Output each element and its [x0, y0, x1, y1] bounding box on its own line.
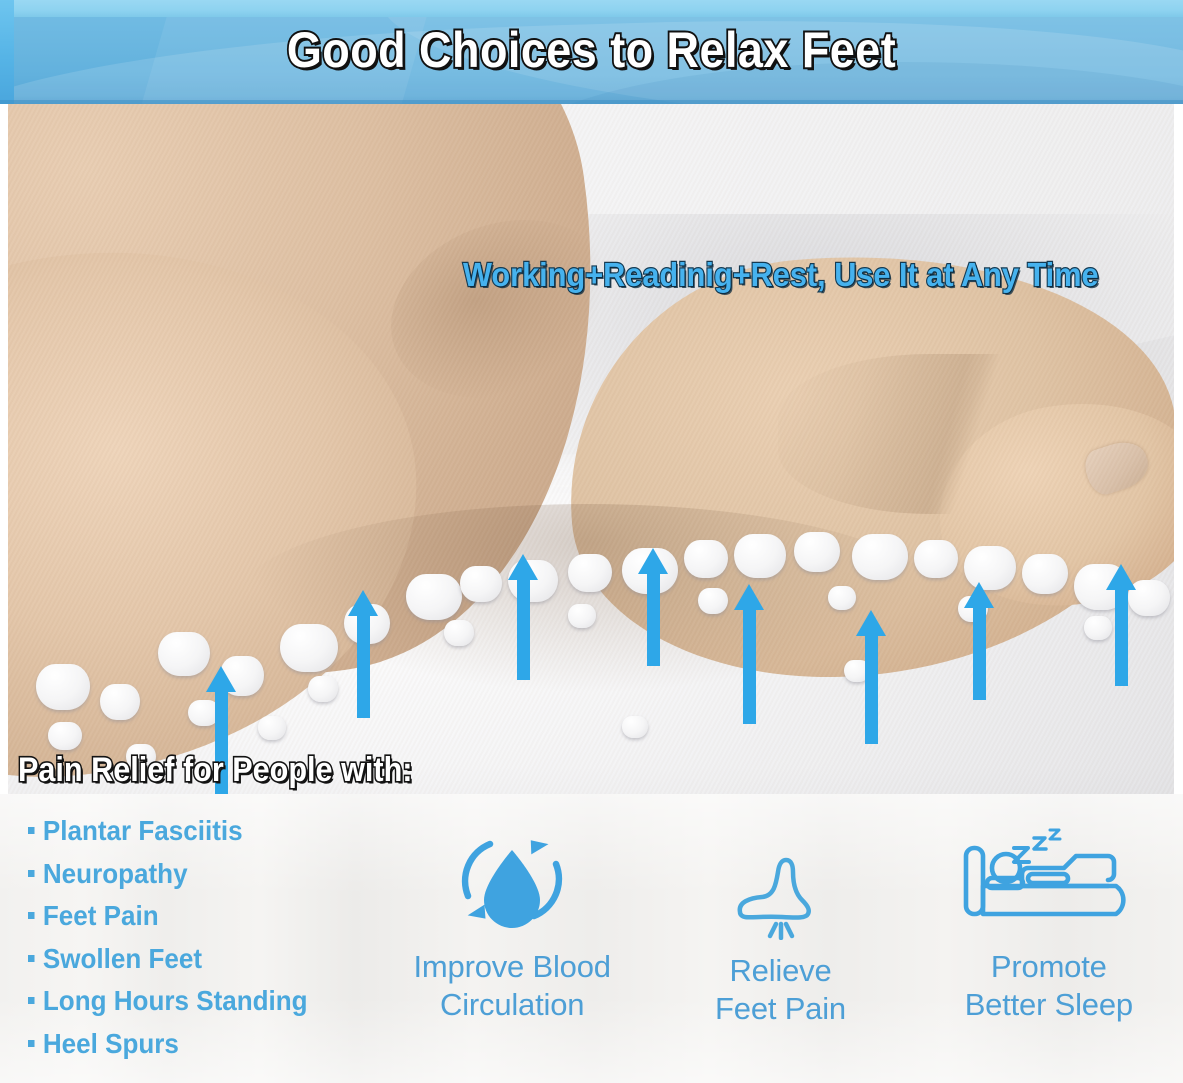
massage-nub — [828, 586, 856, 610]
bullet-square-icon — [28, 870, 35, 877]
product-photo: Working+Readinig+Rest, Use It at Any Tim… — [0, 104, 1183, 794]
bullet-square-icon — [28, 997, 35, 1004]
benefit-relieve-feet-pain: Relieve Feet Pain — [646, 802, 914, 1028]
massage-nub — [444, 620, 474, 646]
arrow-shaft — [865, 632, 878, 744]
massage-nub — [36, 664, 90, 710]
benefits-section: Plantar FasciitisNeuropathyFeet PainSwol… — [0, 794, 1183, 1083]
massage-nub — [568, 554, 612, 592]
massage-nub — [280, 624, 338, 672]
benefit-label-1-line2: Circulation — [414, 986, 611, 1024]
benefit-improve-blood-circulation: Improve Blood Circulation — [378, 802, 646, 1024]
condition-list-item: Swollen Feet — [28, 938, 363, 981]
condition-label: Heel Spurs — [43, 1023, 179, 1066]
massage-nub — [406, 574, 462, 620]
massage-nub — [794, 532, 840, 572]
up-arrow-icon — [348, 590, 378, 722]
massage-nub — [852, 534, 908, 580]
condition-list-item: Neuropathy — [28, 853, 363, 896]
condition-label: Feet Pain — [43, 895, 159, 938]
arrow-shaft — [517, 576, 530, 680]
sleeping-person-bed-icon — [956, 824, 1142, 936]
benefit-label-2: Relieve Feet Pain — [715, 952, 846, 1028]
massage-nub — [1022, 554, 1068, 594]
up-arrow-icon — [1106, 564, 1136, 690]
massage-nub — [100, 684, 140, 720]
condition-label: Plantar Fasciitis — [43, 810, 243, 853]
benefit-label-3-line2: Better Sleep — [965, 986, 1133, 1024]
massage-nub — [48, 722, 82, 750]
massage-nub — [622, 716, 648, 738]
page-title: Good Choices to Relax Feet — [59, 19, 1124, 81]
benefit-label-2-line1: Relieve — [715, 952, 846, 990]
up-arrow-icon — [508, 554, 538, 684]
up-arrow-icon — [964, 582, 994, 704]
massage-nub — [460, 566, 502, 602]
pain-relief-heading: Pain Relief for People with: — [18, 748, 412, 792]
massage-nub — [158, 632, 210, 676]
massage-nub — [258, 716, 286, 740]
up-arrow-icon — [638, 548, 668, 670]
product-infographic: Good Choices to Relax Feet Working — [0, 0, 1183, 1083]
benefit-label-3-line1: Promote — [965, 948, 1133, 986]
benefit-promote-better-sleep: Promote Better Sleep — [915, 802, 1183, 1024]
up-arrow-icon — [856, 610, 886, 748]
condition-list-item: Feet Pain — [28, 895, 363, 938]
up-arrow-icon — [734, 584, 764, 728]
condition-label: Neuropathy — [43, 853, 188, 896]
massage-nub — [914, 540, 958, 578]
arrow-shaft — [357, 612, 370, 718]
foot-relief-icon — [720, 854, 840, 940]
massage-nub — [734, 534, 786, 578]
massage-nub — [698, 588, 728, 614]
massage-nub — [568, 604, 596, 628]
benefit-label-1: Improve Blood Circulation — [414, 948, 611, 1024]
benefit-label-2-line2: Feet Pain — [715, 990, 846, 1028]
massage-nub — [684, 540, 728, 578]
toe-creases — [778, 354, 1158, 514]
arrow-shaft — [1115, 586, 1128, 686]
banner-top-highlight — [0, 0, 1183, 17]
benefit-label-1-line1: Improve Blood — [414, 948, 611, 986]
header-banner: Good Choices to Relax Feet — [0, 0, 1183, 104]
water-drop-circulation-icon — [444, 824, 580, 936]
arrow-shaft — [743, 606, 756, 724]
benefit-grid: Improve Blood Circulation — [378, 802, 1183, 1083]
banner-left-edge — [0, 0, 14, 104]
condition-list-item: Heel Spurs — [28, 1023, 363, 1066]
arrow-shaft — [973, 604, 986, 700]
condition-list: Plantar FasciitisNeuropathyFeet PainSwol… — [28, 810, 388, 1065]
condition-label: Swollen Feet — [43, 938, 202, 981]
bullet-square-icon — [28, 912, 35, 919]
massage-nub — [308, 676, 338, 702]
product-photo-inner: Working+Readinig+Rest, Use It at Any Tim… — [8, 104, 1174, 794]
photo-subtitle: Working+Readinig+Rest, Use It at Any Tim… — [463, 254, 1099, 296]
bullet-square-icon — [28, 827, 35, 834]
bullet-square-icon — [28, 1040, 35, 1047]
condition-list-item: Long Hours Standing — [28, 980, 363, 1023]
condition-list-item: Plantar Fasciitis — [28, 810, 363, 853]
condition-label: Long Hours Standing — [43, 980, 308, 1023]
arrow-shaft — [647, 570, 660, 666]
benefit-label-3: Promote Better Sleep — [965, 948, 1133, 1024]
bullet-square-icon — [28, 955, 35, 962]
